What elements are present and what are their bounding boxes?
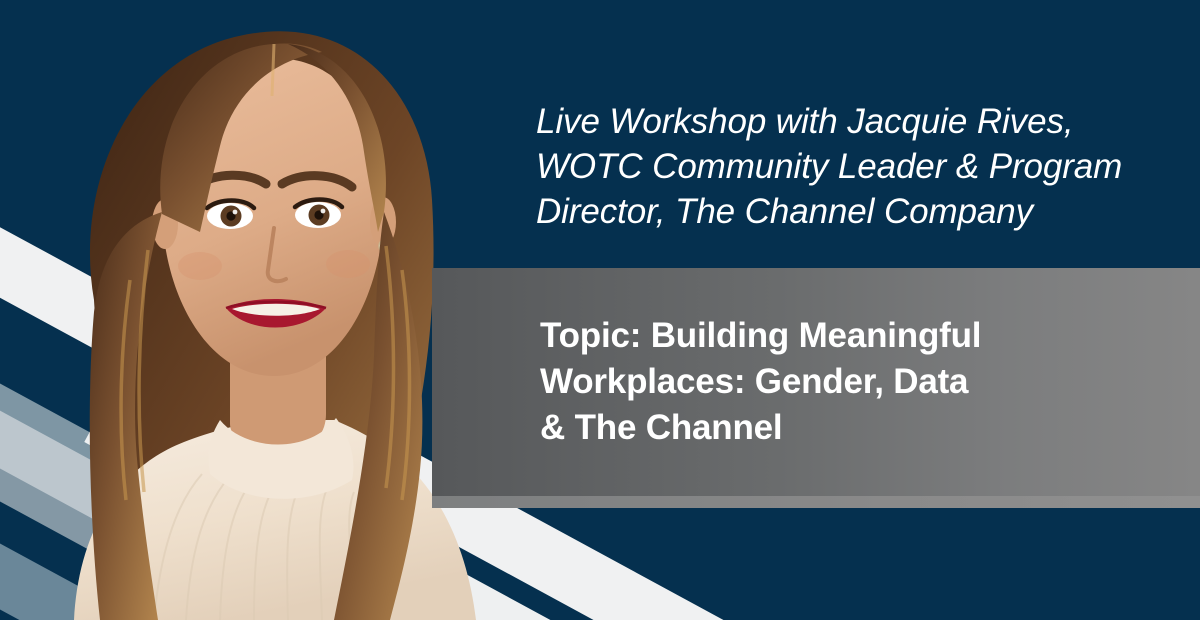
headline-text: Live Workshop with Jacquie Rives, WOTC C…	[536, 100, 1156, 234]
topic-line-1: Topic: Building Meaningful	[540, 313, 1140, 359]
headline-line-2: WOTC Community Leader & Program	[536, 145, 1156, 190]
headline-line-3: Director, The Channel Company	[536, 190, 1156, 235]
headline-line-1: Live Workshop with Jacquie Rives,	[536, 100, 1156, 145]
webinar-promo-banner: Live Workshop with Jacquie Rives, WOTC C…	[0, 0, 1200, 620]
topic-text: Topic: Building Meaningful Workplaces: G…	[540, 313, 1140, 452]
topic-line-2: Workplaces: Gender, Data	[540, 359, 1140, 405]
topic-panel-bottom-strip	[432, 496, 1200, 508]
topic-line-3: & The Channel	[540, 405, 1140, 451]
